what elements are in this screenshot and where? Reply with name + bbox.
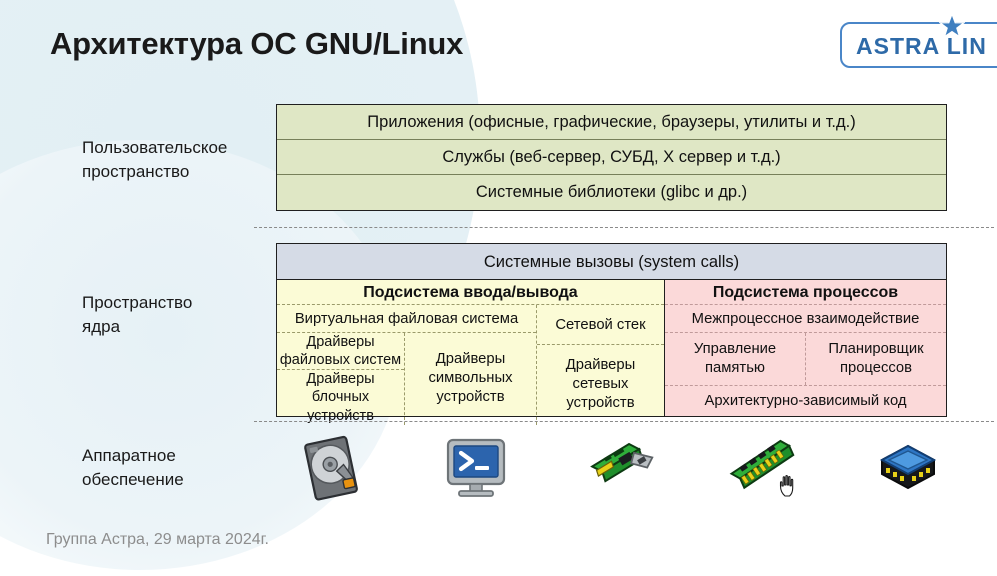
- io-filesystem-group: Виртуальная файловая система Драйверы фа…: [277, 305, 537, 425]
- hand-cursor: [778, 473, 800, 499]
- io-subsystem: Подсистема ввода/вывода Виртуальная файл…: [277, 280, 665, 416]
- star-icon: [939, 13, 965, 39]
- process-subsystem: Подсистема процессов Межпроцессное взаим…: [665, 280, 946, 416]
- user-space-row-libraries[interactable]: Системные библиотеки (glibc и др.): [277, 175, 946, 210]
- io-subsystem-body: Виртуальная файловая система Драйверы фа…: [277, 305, 664, 425]
- logo-label: ASTRA LIN: [856, 33, 987, 60]
- fs-drivers-cell[interactable]: Драйверы файловых систем: [277, 333, 404, 370]
- divider-kernel-hardware: [254, 421, 994, 422]
- kernel-space-stack: Системные вызовы (system calls) Подсисте…: [276, 243, 947, 417]
- system-calls-bar[interactable]: Системные вызовы (system calls): [277, 244, 946, 280]
- slide-canvas: Архитектура ОС GNU/Linux ASTRA LIN Польз…: [0, 0, 997, 576]
- char-drivers-cell[interactable]: Драйверы символьных устройств: [405, 333, 536, 425]
- network-stack-cell[interactable]: Сетевой стек: [537, 305, 664, 345]
- io-network-group: Сетевой стек Драйверы сетевых устройств: [537, 305, 664, 425]
- user-space-row-applications[interactable]: Приложения (офисные, графические, браузе…: [277, 105, 946, 140]
- hardware-icon-row: [290, 432, 950, 504]
- zone-label-user-space: Пользовательское пространство: [82, 136, 227, 184]
- process-subsystem-middle-row: Управление памятью Планировщик процессов: [665, 333, 946, 386]
- io-fs-drivers-column: Драйверы файловых систем Драйверы блочны…: [277, 333, 405, 425]
- page-title: Архитектура ОС GNU/Linux: [50, 26, 463, 62]
- user-space-row-services[interactable]: Службы (веб-сервер, СУБД, X сервер и т.д…: [277, 140, 946, 175]
- network-drivers-cell[interactable]: Драйверы сетевых устройств: [537, 345, 664, 425]
- user-space-stack: Приложения (офисные, графические, браузе…: [276, 104, 947, 211]
- io-subsystem-title: Подсистема ввода/вывода: [277, 280, 664, 305]
- virtual-file-system-cell[interactable]: Виртуальная файловая система: [277, 305, 536, 333]
- zone-label-hardware: Аппаратное обеспечение: [82, 444, 184, 492]
- astra-linux-logo: ASTRA LIN: [840, 22, 997, 68]
- scheduler-cell[interactable]: Планировщик процессов: [806, 333, 946, 385]
- block-drivers-cell[interactable]: Драйверы блочных устройств: [277, 370, 404, 424]
- io-drivers-row: Драйверы файловых систем Драйверы блочны…: [277, 333, 536, 425]
- hard-disk-icon[interactable]: [296, 434, 368, 502]
- kernel-subsystems: Подсистема ввода/вывода Виртуальная файл…: [277, 280, 946, 416]
- divider-user-kernel: [254, 227, 994, 228]
- cpu-chip-icon[interactable]: [872, 434, 944, 502]
- process-subsystem-title: Подсистема процессов: [665, 280, 946, 305]
- network-card-icon[interactable]: [584, 434, 656, 502]
- zone-label-kernel-space: Пространство ядра: [82, 291, 192, 339]
- arch-dependent-code-cell[interactable]: Архитектурно-зависимый код: [665, 386, 946, 416]
- ipc-cell[interactable]: Межпроцессное взаимодействие: [665, 305, 946, 333]
- footer-text: Группа Астра, 29 марта 2024г.: [46, 531, 269, 549]
- monitor-terminal-icon[interactable]: [440, 434, 512, 502]
- memory-management-cell[interactable]: Управление памятью: [665, 333, 806, 385]
